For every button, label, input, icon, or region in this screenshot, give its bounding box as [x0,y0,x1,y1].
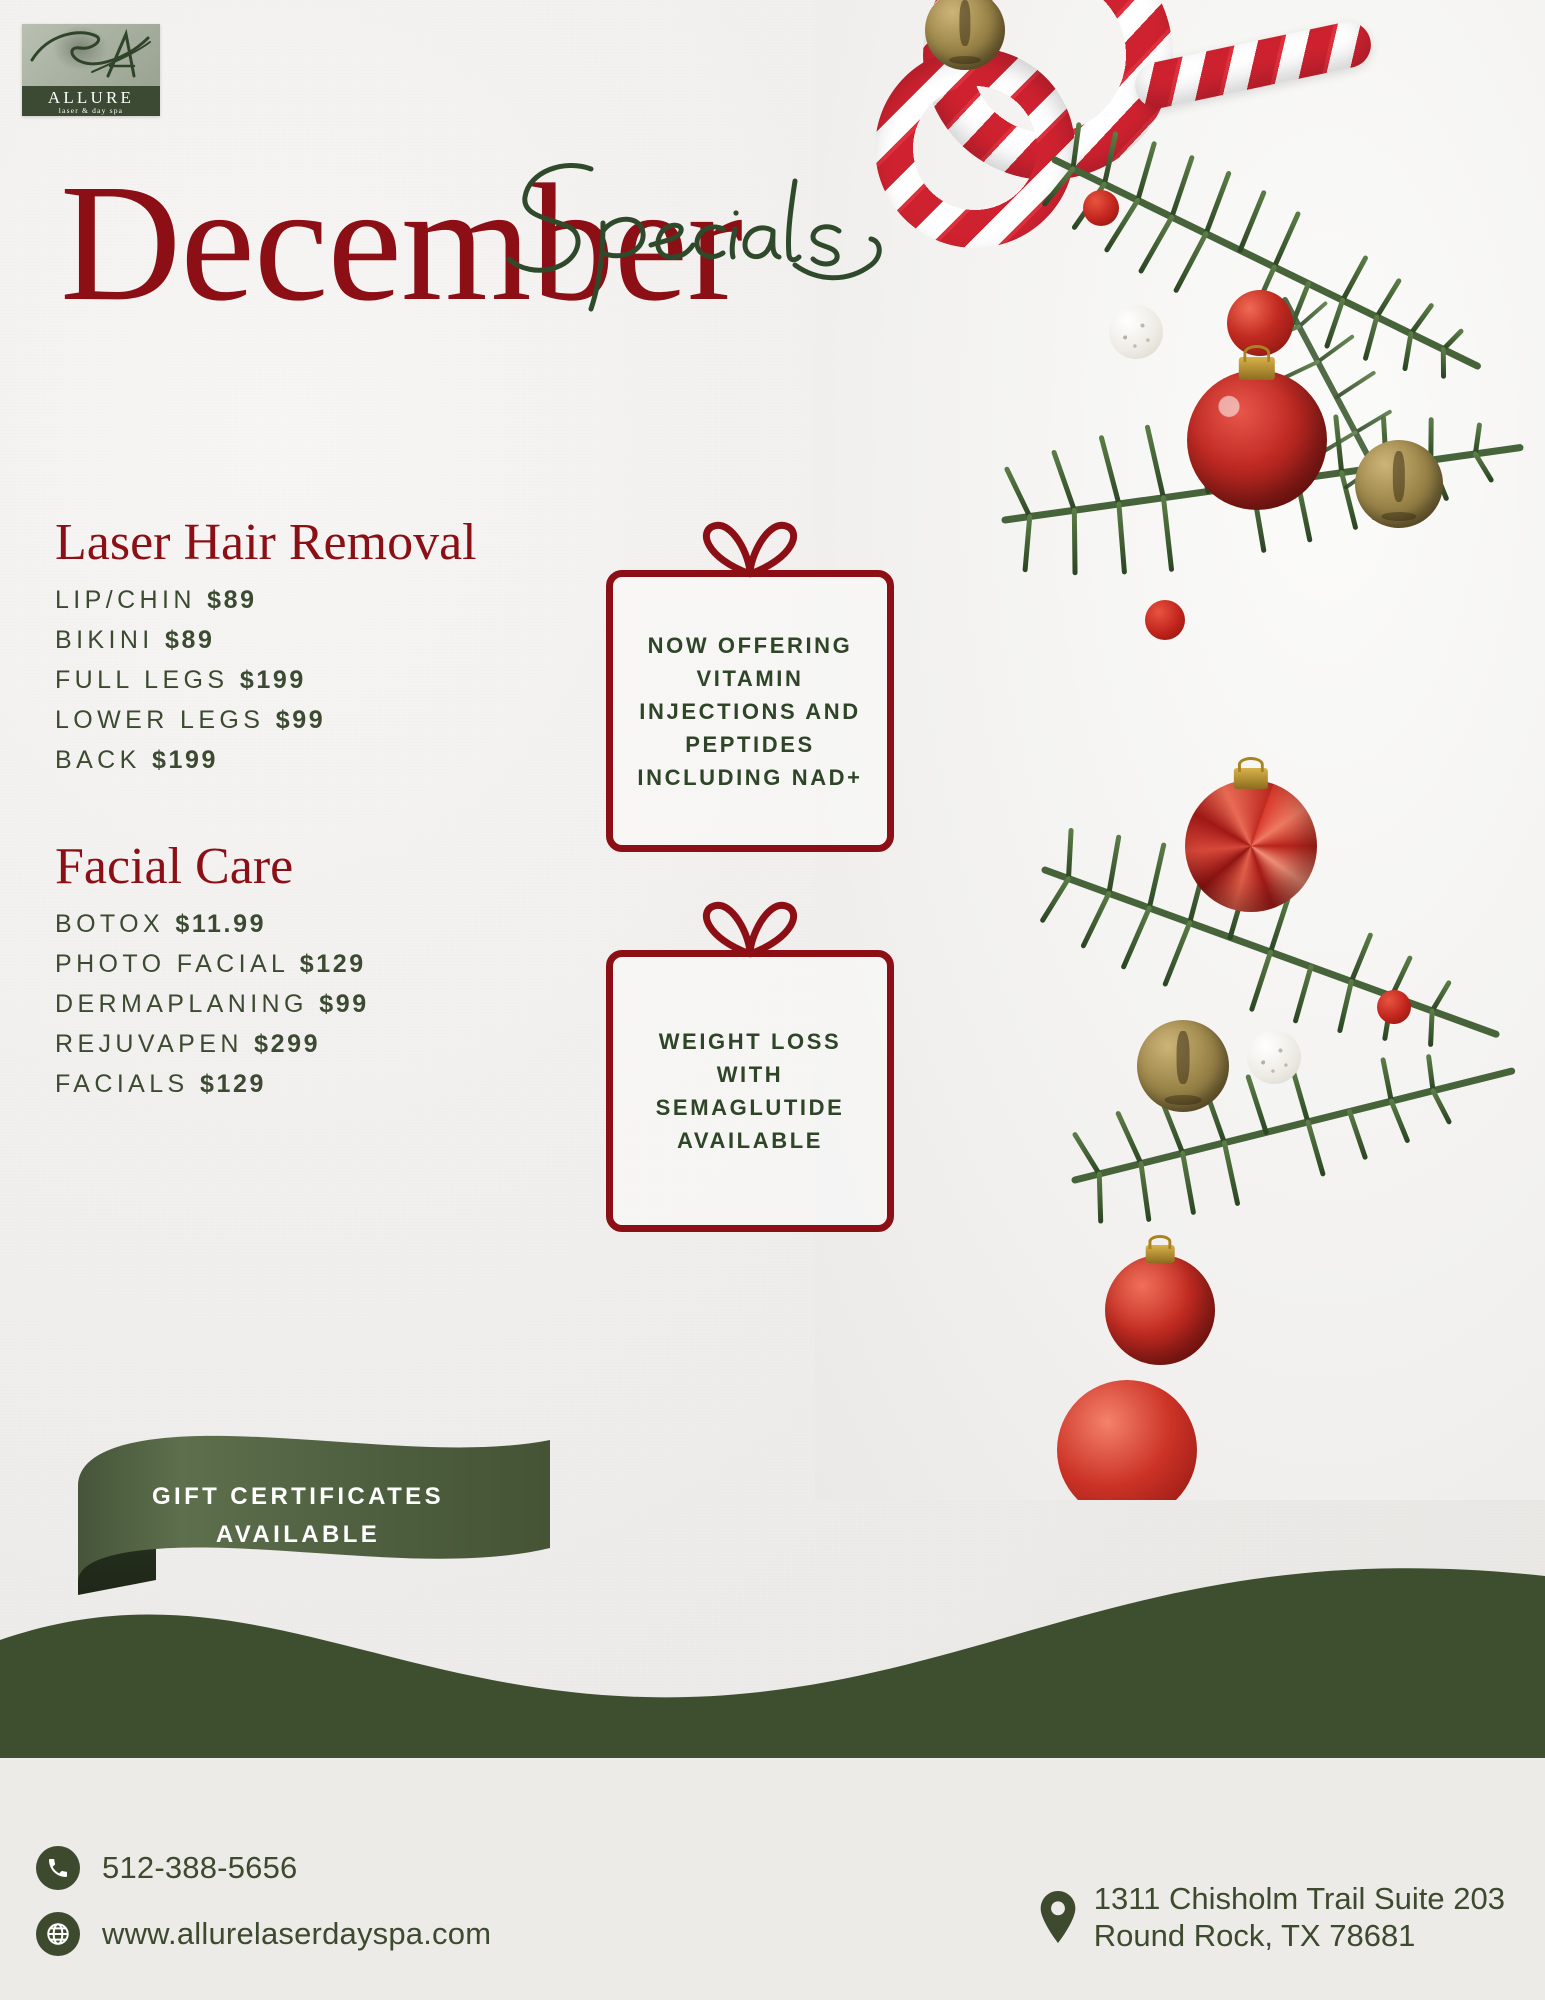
location-pin-icon [1036,1895,1080,1939]
promo-gift-box-vitamins: NOW OFFERING VITAMIN INJECTIONS AND PEPT… [606,570,894,852]
service-row: LOWER LEGS $99 [55,700,615,740]
section-items: LIP/CHIN $89 BIKINI $89 FULL LEGS $199 L… [55,580,615,780]
address-block: 1311 Chisholm Trail Suite 203 Round Rock… [1094,1880,1505,1954]
gift-bow-icon [680,516,820,578]
red-berry-a [1145,600,1185,640]
service-name: LIP/CHIN [55,586,196,614]
phone-icon [36,1846,80,1890]
service-name: BIKINI [55,626,154,654]
services-list: Laser Hair Removal LIP/CHIN $89 BIKINI $… [55,512,615,1104]
website-url: www.allurelaserdayspa.com [102,1917,491,1951]
service-row: BIKINI $89 [55,620,615,660]
service-price: $199 [240,666,306,694]
promo-box-body: WEIGHT LOSS WITH SEMAGLUTIDE AVAILABLE [606,950,894,1232]
contact-website-row[interactable]: www.allurelaserdayspa.com [36,1912,491,1956]
flyer-page: ALLURE laser & day spa December [0,0,1545,2000]
promo-box-text: NOW OFFERING VITAMIN INJECTIONS AND PEPT… [613,619,887,804]
allure-logo: ALLURE laser & day spa [22,24,160,116]
service-name: BACK [55,746,141,774]
service-row: FACIALS $129 [55,1064,615,1104]
promo-box-body: NOW OFFERING VITAMIN INJECTIONS AND PEPT… [606,570,894,852]
logo-wordmark-area: ALLURE laser & day spa [22,86,160,116]
phone-number: 512-388-5656 [102,1851,297,1885]
red-ornament-lower [1105,1255,1215,1365]
service-row: BACK $199 [55,740,615,780]
ornament-cap [1146,1245,1175,1263]
script-a-monogram-icon [22,24,160,86]
specials-script-art [495,145,895,335]
service-name: REJUVAPEN [55,1030,243,1058]
service-name: FACIALS [55,1070,189,1098]
contact-info-right: 1311 Chisholm Trail Suite 203 Round Rock… [1036,1880,1505,1954]
service-price: $199 [152,746,218,774]
service-price: $129 [200,1070,266,1098]
service-name: PHOTO FACIAL [55,950,288,978]
jingle-bell-lower [1137,1020,1229,1112]
service-section-laser: Laser Hair Removal LIP/CHIN $89 BIKINI $… [55,512,615,780]
service-row: PHOTO FACIAL $129 [55,944,615,984]
promo-box-text: WEIGHT LOSS WITH SEMAGLUTIDE AVAILABLE [613,1015,887,1167]
gift-certificates-ribbon: GIFT CERTIFICATES AVAILABLE [38,1430,558,1615]
red-berry-b [1083,190,1119,226]
logo-monogram-area [22,24,160,86]
headline-script-word [495,145,895,335]
white-snow-ball-b [1247,1030,1301,1084]
red-ornament-glitter [1187,370,1327,510]
white-snow-ball-a [1109,305,1163,359]
service-row: REJUVAPEN $299 [55,1024,615,1064]
logo-tagline: laser & day spa [22,106,160,115]
jingle-bell-upper [1355,440,1443,528]
service-price: $89 [207,586,257,614]
service-price: $129 [300,950,366,978]
contact-info-left: 512-388-5656 www.allurelaserdayspa.com [36,1846,491,1956]
gift-bow-icon [680,896,820,958]
ornament-cap [1234,768,1268,789]
address-line-1: 1311 Chisholm Trail Suite 203 [1094,1880,1505,1917]
service-row: LIP/CHIN $89 [55,580,615,620]
section-spacer [55,780,615,836]
service-name: DERMAPLANING [55,990,308,1018]
service-price: $11.99 [175,910,266,938]
ornament-cap [1239,357,1275,379]
service-price: $299 [254,1030,320,1058]
service-name: FULL LEGS [55,666,228,694]
contact-phone-row[interactable]: 512-388-5656 [36,1846,491,1890]
service-price: $99 [319,990,369,1018]
service-section-facial: Facial Care BOTOX $11.99 PHOTO FACIAL $1… [55,836,615,1104]
service-name: LOWER LEGS [55,706,264,734]
service-row: DERMAPLANING $99 [55,984,615,1024]
globe-icon [36,1912,80,1956]
red-berry-c [1377,990,1411,1024]
service-row: BOTOX $11.99 [55,904,615,944]
service-price: $99 [276,706,326,734]
address-line-2: Round Rock, TX 78681 [1094,1917,1505,1954]
section-title: Laser Hair Removal [55,512,615,574]
section-items: BOTOX $11.99 PHOTO FACIAL $129 DERMAPLAN… [55,904,615,1104]
service-row: FULL LEGS $199 [55,660,615,700]
service-price: $89 [165,626,215,654]
ribbon-shape [38,1430,558,1615]
promo-gift-box-weightloss: WEIGHT LOSS WITH SEMAGLUTIDE AVAILABLE [606,950,894,1232]
red-ornament-faceted [1185,780,1317,912]
service-name: BOTOX [55,910,164,938]
section-title: Facial Care [55,836,615,898]
logo-name: ALLURE [22,86,160,106]
